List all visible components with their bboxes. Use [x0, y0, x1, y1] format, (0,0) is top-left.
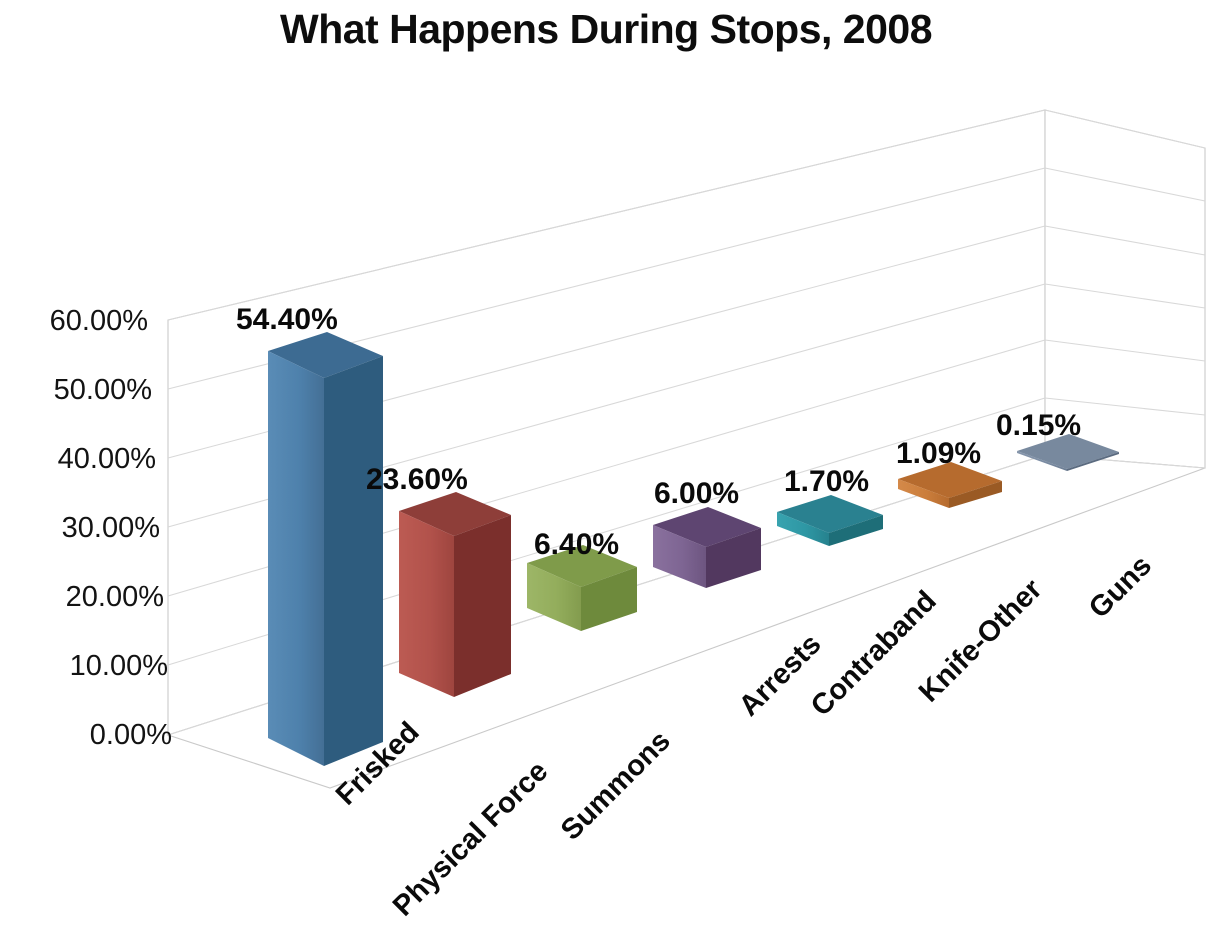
chart-canvas: What Happens During Stops, 2008 — [0, 0, 1212, 942]
y-axis-tick-0: 0.00% — [34, 719, 172, 752]
data-label-frisked: 54.40% — [236, 303, 338, 337]
data-label-guns: 0.15% — [996, 409, 1081, 443]
data-label-summons: 6.40% — [534, 528, 619, 562]
bar-physical-force[interactable] — [399, 492, 511, 697]
data-label-physical-force: 23.60% — [366, 463, 468, 497]
y-axis-tick-60: 60.00% — [10, 305, 148, 338]
data-label-knife-other: 1.09% — [896, 437, 981, 471]
y-axis-tick-10: 10.00% — [30, 650, 168, 683]
y-axis-tick-20: 20.00% — [26, 581, 164, 614]
y-axis-tick-40: 40.00% — [18, 443, 156, 476]
data-label-arrests: 6.00% — [654, 477, 739, 511]
bar-frisked[interactable] — [268, 332, 383, 766]
data-label-contraband: 1.70% — [784, 465, 869, 499]
y-axis-tick-30: 30.00% — [22, 512, 160, 545]
y-axis-tick-50: 50.00% — [14, 374, 152, 407]
